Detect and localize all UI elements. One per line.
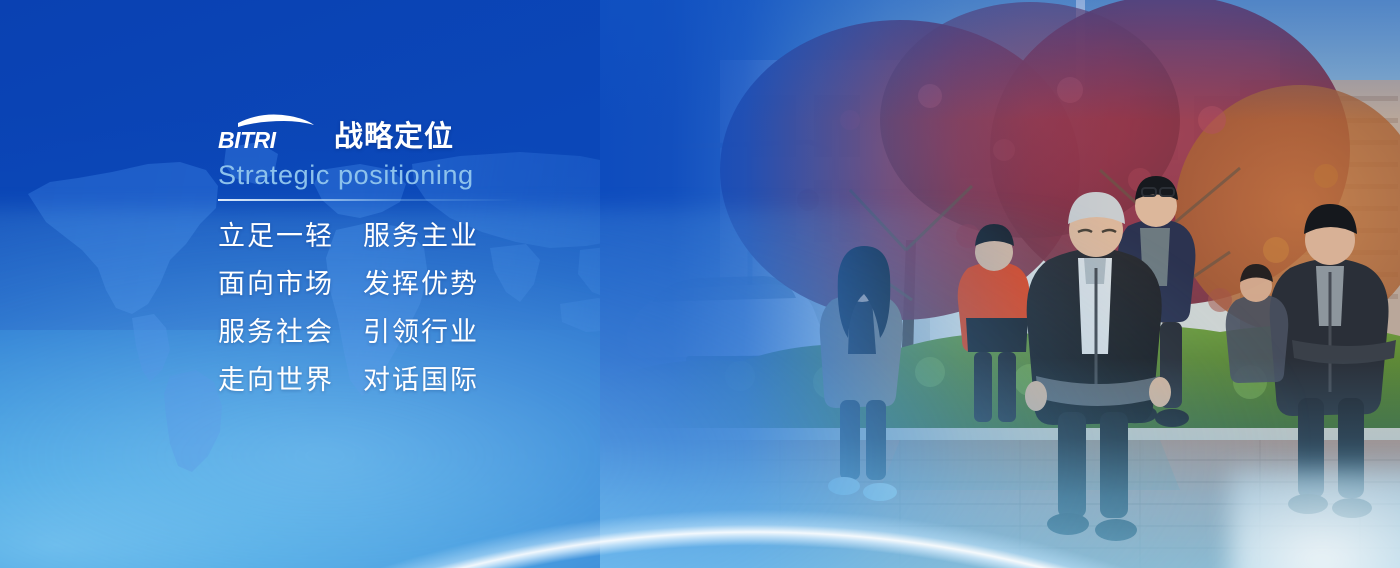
hero-photo xyxy=(600,0,1400,568)
banner-content: BITRI 战略定位 Strategic positioning 立足一轻 服务… xyxy=(218,108,698,394)
photo-bottom-fade xyxy=(600,358,1400,568)
banner-root: BITRI 战略定位 Strategic positioning 立足一轻 服务… xyxy=(0,0,1400,568)
brand-subtitle-en: Strategic positioning xyxy=(218,161,698,189)
brand-title-cn: 战略定位 xyxy=(334,123,454,154)
title-divider xyxy=(218,199,518,201)
slogan-line: 走向世界 对话国际 xyxy=(218,367,698,394)
slogan-line: 面向市场 发挥优势 xyxy=(218,271,698,298)
svg-text:BITRI: BITRI xyxy=(218,127,277,153)
slogan-list: 立足一轻 服务主业 面向市场 发挥优势 服务社会 引领行业 走向世界 对话国际 xyxy=(218,223,698,394)
slogan-line: 立足一轻 服务主业 xyxy=(218,223,698,250)
slogan-line: 服务社会 引领行业 xyxy=(218,319,698,346)
photo-top-fade xyxy=(600,0,1400,120)
bitri-logo: BITRI xyxy=(218,110,320,154)
brand-title-row: BITRI 战略定位 xyxy=(218,108,698,154)
